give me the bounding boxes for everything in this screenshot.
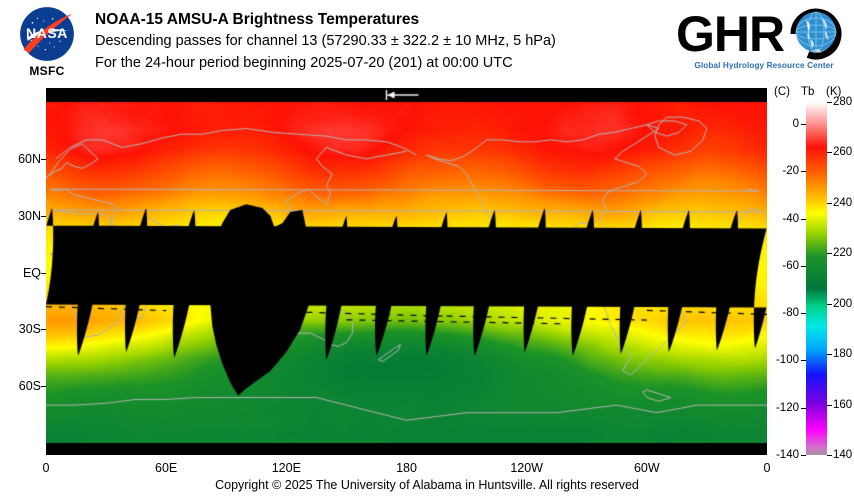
colorbar <box>806 102 827 455</box>
colorbar-celsius-tick <box>801 124 806 125</box>
latitude-tick-label-30s: 30S <box>5 322 41 336</box>
ghrc-tagline: Global Hydrology Resource Center <box>680 61 848 70</box>
colorbar-kelvin-tick <box>827 152 832 153</box>
colorbar-celsius-label--120: -120 <box>776 402 799 414</box>
colorbar-kelvin-tick <box>827 304 832 305</box>
colorbar-celsius-tick <box>801 455 806 456</box>
copyright-notice: Copyright © 2025 The University of Alaba… <box>0 478 854 492</box>
latitude-tick-mark <box>41 386 46 387</box>
svg-text:GHR: GHR <box>676 6 785 62</box>
colorbar-celsius-tick <box>801 266 806 267</box>
colorbar-kelvin-label-240: 240 <box>833 197 852 209</box>
colorbar-kelvin-tick <box>827 455 832 456</box>
colorbar-kelvin-tick <box>827 354 832 355</box>
latitude-tick-label-60n: 60N <box>5 152 41 166</box>
title-block: NOAA-15 AMSU-A Brightness Temperatures D… <box>95 10 695 74</box>
map-plot-area[interactable] <box>46 88 767 455</box>
colorbar-header-celsius: (C) <box>774 86 790 98</box>
colorbar-celsius-tick <box>801 313 806 314</box>
colorbar-celsius-label--20: -20 <box>782 165 799 177</box>
latitude-tick-label-30n: 30N <box>5 209 41 223</box>
colorbar-celsius-tick <box>801 171 806 172</box>
latitude-tick-label-eq: EQ <box>5 266 41 280</box>
colorbar-celsius-tick <box>801 219 806 220</box>
brightness-temperature-heatmap <box>46 88 767 455</box>
ghrc-logo: GHR Global Hydrology Resource Center <box>676 6 848 80</box>
colorbar-celsius-label--60: -60 <box>782 260 799 272</box>
latitude-tick-label-60s: 60S <box>5 379 41 393</box>
longitude-tick-label-120: 120E <box>272 461 301 475</box>
colorbar-kelvin-label-160: 160 <box>833 399 852 411</box>
longitude-tick-label-300: 60W <box>634 461 660 475</box>
latitude-tick-mark <box>41 216 46 217</box>
latitude-tick-mark <box>41 273 46 274</box>
colorbar-celsius-tick <box>801 360 806 361</box>
page-subtitle-period: For the 24-hour period beginning 2025-07… <box>95 52 695 74</box>
colorbar-header-tb: Tb <box>801 86 814 98</box>
colorbar-kelvin-tick <box>827 405 832 406</box>
colorbar-celsius-label--80: -80 <box>782 307 799 319</box>
longitude-tick-label-0: 0 <box>43 461 50 475</box>
colorbar-kelvin-tick <box>827 253 832 254</box>
ghrc-wordmark-icon: GHR <box>676 6 848 62</box>
colorbar-celsius-label--140: -140 <box>776 449 799 461</box>
colorbar-kelvin-label-260: 260 <box>833 146 852 158</box>
page-title: NOAA-15 AMSU-A Brightness Temperatures <box>95 10 695 30</box>
longitude-tick-label-60: 60E <box>155 461 177 475</box>
svg-text:NASA: NASA <box>26 25 68 41</box>
page-subtitle-channel: Descending passes for channel 13 (57290.… <box>95 30 695 52</box>
colorbar-kelvin-label-220: 220 <box>833 247 852 259</box>
latitude-axis: 60N30NEQ30S60S <box>0 88 41 455</box>
longitude-tick-label-180: 180 <box>396 461 417 475</box>
colorbar-kelvin-tick <box>827 203 832 204</box>
latitude-tick-mark <box>41 159 46 160</box>
latitude-tick-mark <box>41 329 46 330</box>
colorbar-kelvin-label-180: 180 <box>833 348 852 360</box>
msfc-label: MSFC <box>8 64 86 78</box>
nasa-meatball-icon: NASA <box>19 6 75 62</box>
colorbar-celsius-label--40: -40 <box>782 213 799 225</box>
colorbar-kelvin-tick <box>827 102 832 103</box>
longitude-tick-label-240: 120W <box>510 461 543 475</box>
colorbar-celsius-label--100: -100 <box>776 354 799 366</box>
colorbar-gradient <box>806 102 827 455</box>
colorbar-kelvin-label-140: 140 <box>833 449 852 461</box>
colorbar-celsius-label-0: 0 <box>793 118 799 130</box>
colorbar-kelvin-label-200: 200 <box>833 298 852 310</box>
nasa-logo: NASA MSFC <box>8 6 86 84</box>
colorbar-kelvin-label-280: 280 <box>833 96 852 108</box>
colorbar-celsius-tick <box>801 408 806 409</box>
longitude-tick-label-360: 0 <box>764 461 771 475</box>
